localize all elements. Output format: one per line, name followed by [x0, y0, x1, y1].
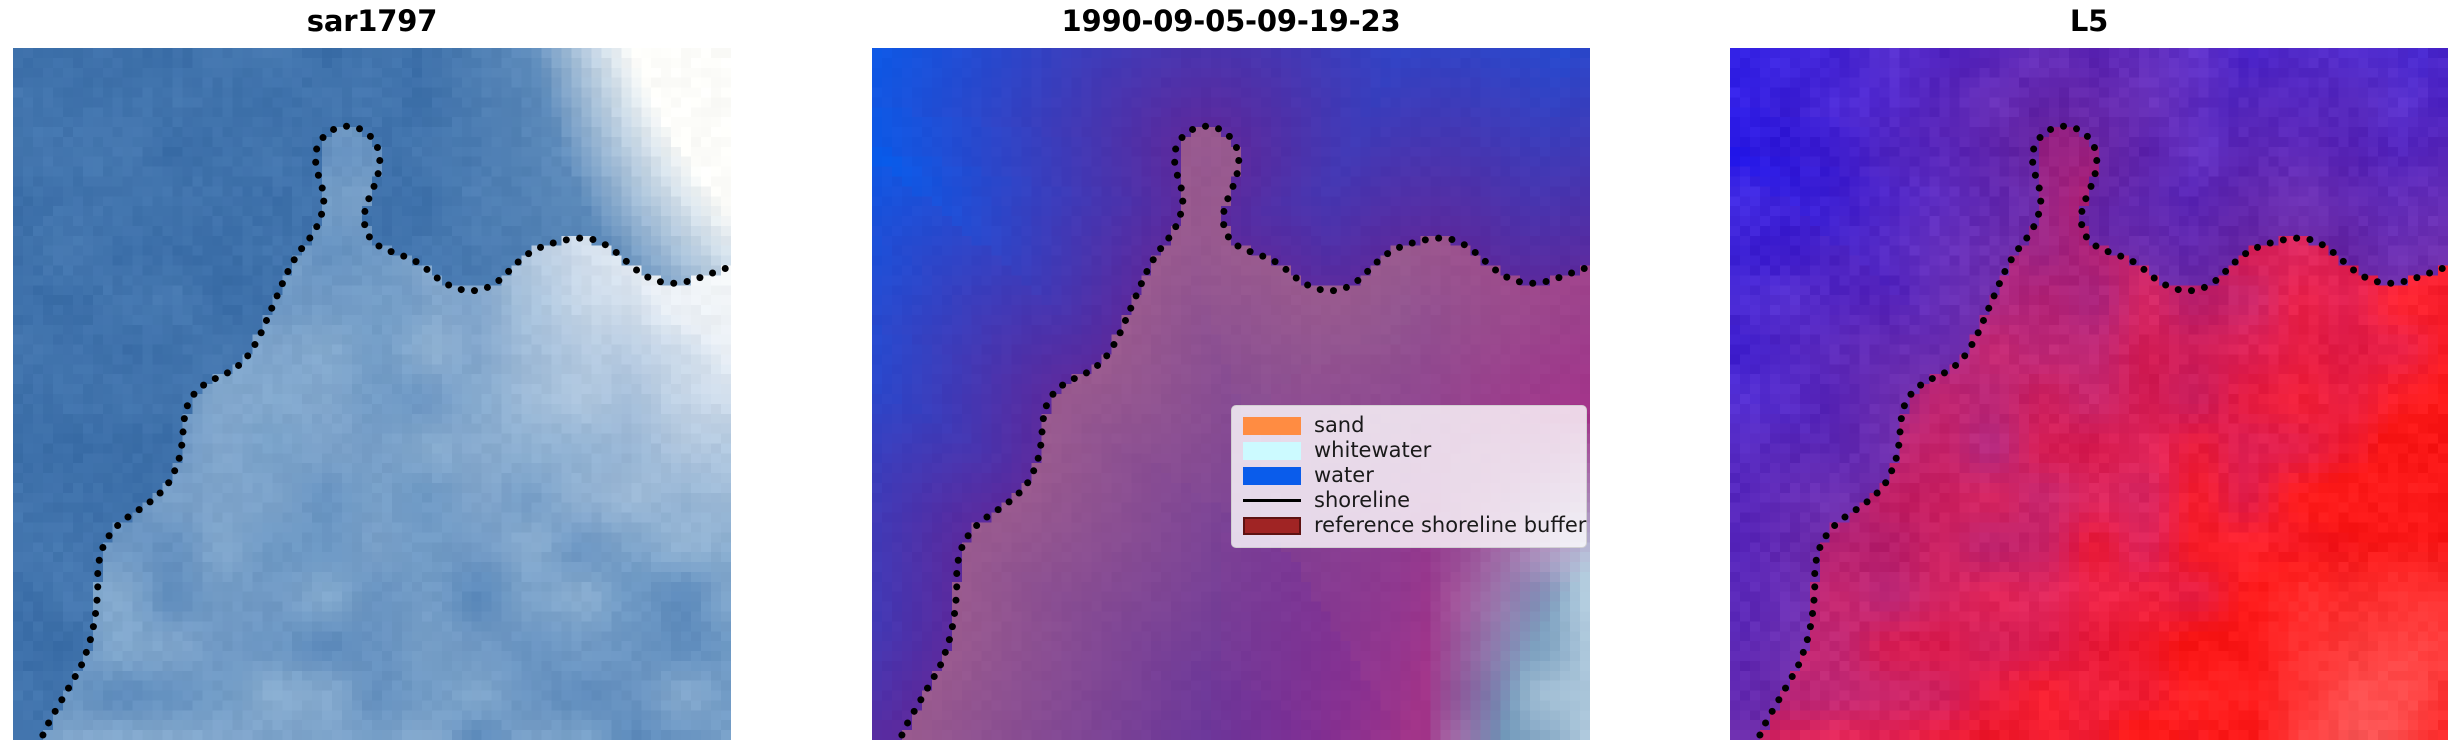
satellite-image-l5 [1730, 48, 2448, 740]
panel-title-sar1797: sar1797 [13, 4, 731, 38]
legend-swatch-water [1243, 467, 1301, 485]
legend-label-reference-buffer: reference shoreline buffer [1314, 515, 1586, 536]
figure-canvas: sar1797 1990-09-05-09-19-23 L5 sand whit… [0, 0, 2460, 756]
legend-swatch-reference-buffer [1243, 517, 1301, 535]
legend-item-shoreline: shoreline [1243, 488, 1575, 513]
legend-swatch-shoreline [1243, 492, 1301, 510]
legend-item-reference-buffer: reference shoreline buffer [1243, 513, 1575, 538]
panel-l5: L5 [1730, 48, 2448, 740]
legend-swatch-sand [1243, 417, 1301, 435]
classification-image [872, 48, 1590, 740]
panel-sar1797: sar1797 [13, 48, 731, 740]
legend-box: sand whitewater water shoreline referenc… [1231, 405, 1587, 548]
legend-label-whitewater: whitewater [1314, 440, 1431, 461]
panel-classified: 1990-09-05-09-19-23 [872, 48, 1590, 740]
legend-item-water: water [1243, 463, 1575, 488]
legend-label-shoreline: shoreline [1314, 490, 1410, 511]
legend-swatch-whitewater [1243, 442, 1301, 460]
satellite-image-sar1797 [13, 48, 731, 740]
legend-label-water: water [1314, 465, 1374, 486]
legend-item-whitewater: whitewater [1243, 438, 1575, 463]
legend-item-sand: sand [1243, 413, 1575, 438]
legend-label-sand: sand [1314, 415, 1364, 436]
panel-title-l5: L5 [1730, 4, 2448, 38]
panel-title-classified: 1990-09-05-09-19-23 [872, 4, 1590, 38]
